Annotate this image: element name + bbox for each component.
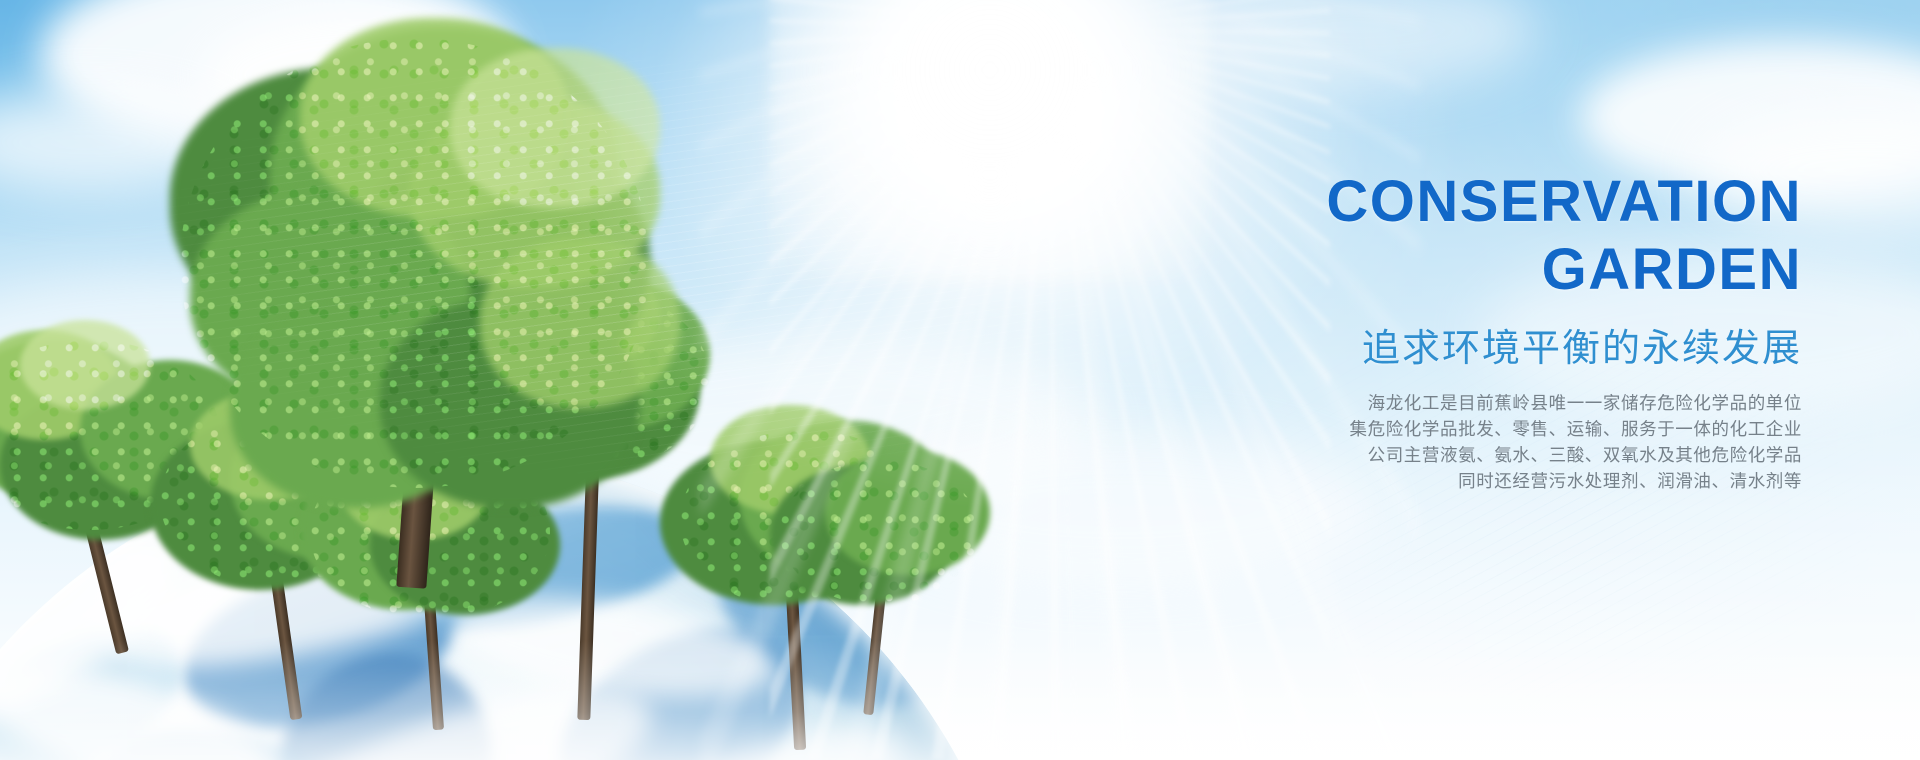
tree-globe-far-right	[770, 455, 1000, 715]
banner-headline: CONSERVATION GARDEN	[1122, 168, 1802, 304]
body-line-1: 海龙化工是目前蕉岭县唯一一家储存危险化学品的单位	[1122, 390, 1802, 416]
banner-tagline: 追求环境平衡的永续发展	[1122, 326, 1802, 372]
headline-line-1: CONSERVATION	[1326, 169, 1802, 234]
banner-body-copy: 海龙化工是目前蕉岭县唯一一家储存危险化学品的单位 集危险化学品批发、零售、运输、…	[1122, 390, 1802, 494]
body-line-3: 公司主营液氨、氨水、三酸、双氧水及其他危险化学品	[1122, 442, 1802, 468]
tree-hero	[150, 8, 670, 568]
body-line-4: 同时还经营污水处理剂、润滑油、清水剂等	[1122, 468, 1802, 494]
hero-banner: CONSERVATION GARDEN 追求环境平衡的永续发展 海龙化工是目前蕉…	[0, 0, 1920, 760]
body-line-2: 集危险化学品批发、零售、运输、服务于一体的化工企业	[1122, 416, 1802, 442]
banner-text-block: CONSERVATION GARDEN 追求环境平衡的永续发展 海龙化工是目前蕉…	[1122, 168, 1802, 494]
headline-line-2: GARDEN	[1122, 236, 1802, 304]
